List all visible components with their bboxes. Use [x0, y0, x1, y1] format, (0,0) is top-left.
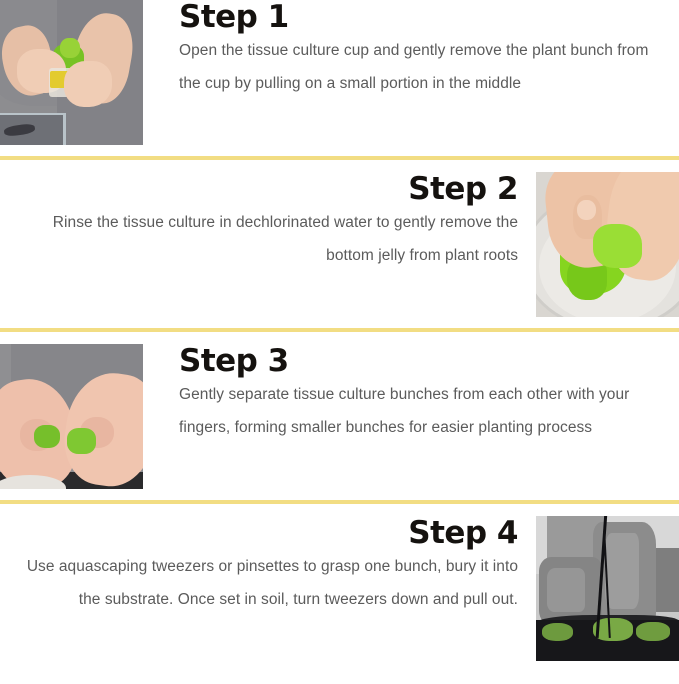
step-3-image [0, 344, 143, 489]
step-2-title: Step 2 [10, 172, 518, 206]
person-opening-tissue-culture-cup-photo [0, 0, 143, 145]
hands-rinsing-plant-in-bowl-photo [536, 172, 679, 317]
step-4-body: Step 4 Use aquascaping tweezers or pinse… [0, 516, 536, 616]
step-4-section: Step 4 Use aquascaping tweezers or pinse… [0, 516, 679, 661]
divider-gap-3-top [0, 489, 679, 500]
step-1-image [0, 0, 143, 145]
divider-gap-1-bottom [0, 160, 679, 172]
step-4-text: Use aquascaping tweezers or pinsettes to… [10, 550, 518, 616]
divider-gap-2-top [0, 317, 679, 328]
planting-steps-infographic: Step 1 Open the tissue culture cup and g… [0, 0, 679, 684]
aquascape-rocks-substrate-tweezers-photo [536, 516, 679, 661]
divider-gap-1-top [0, 145, 679, 156]
hands-separating-plant-bunches-photo [0, 344, 143, 489]
step-3-text: Gently separate tissue culture bunches f… [179, 378, 669, 444]
step-2-section: Step 2 Rinse the tissue culture in dechl… [0, 172, 679, 317]
step-1-title: Step 1 [179, 0, 669, 34]
step-2-body: Step 2 Rinse the tissue culture in dechl… [0, 172, 536, 272]
step-4-title: Step 4 [10, 516, 518, 550]
step-3-title: Step 3 [179, 344, 669, 378]
divider-gap-3-bottom [0, 504, 679, 516]
step-3-section: Step 3 Gently separate tissue culture bu… [0, 344, 679, 489]
step-4-image [536, 516, 679, 661]
step-1-section: Step 1 Open the tissue culture cup and g… [0, 0, 679, 145]
divider-gap-2-bottom [0, 332, 679, 344]
step-1-body: Step 1 Open the tissue culture cup and g… [143, 0, 679, 100]
step-1-text: Open the tissue culture cup and gently r… [179, 34, 669, 100]
step-2-text: Rinse the tissue culture in dechlorinate… [10, 206, 518, 272]
step-3-body: Step 3 Gently separate tissue culture bu… [143, 344, 679, 444]
step-2-image [536, 172, 679, 317]
